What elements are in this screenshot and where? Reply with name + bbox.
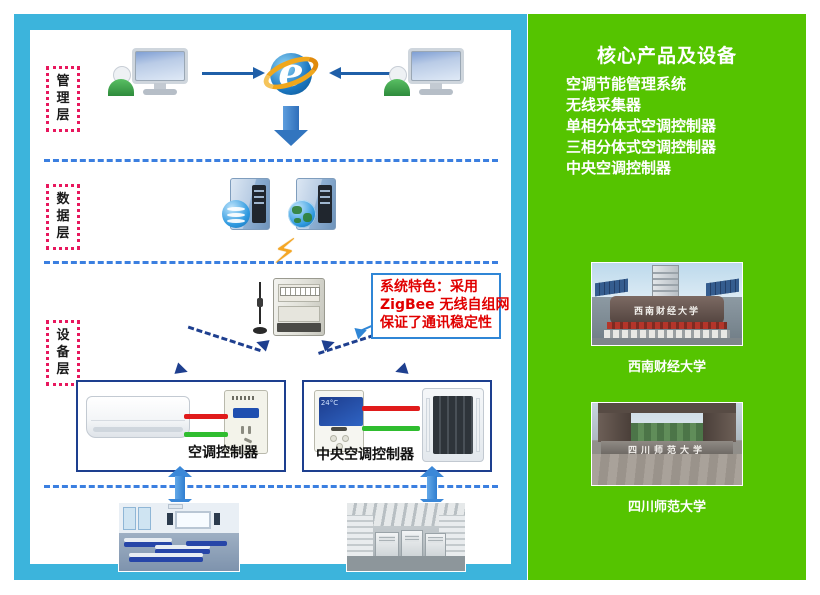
layer-char: 数: [49, 191, 77, 208]
products-title: 核心产品及设备: [528, 41, 806, 68]
link-collector-split-ac: [188, 326, 261, 352]
cable-red: [362, 406, 420, 411]
callout-line-3: 保证了通讯稳定性: [380, 314, 492, 332]
product-item: 单相分体式空调控制器: [566, 116, 716, 137]
layer-char: 层: [49, 107, 77, 124]
cable-red: [184, 414, 228, 419]
device-label-central-ac: 中央空调控制器: [316, 444, 414, 464]
layer-char: 备: [49, 344, 77, 361]
device-box-split-ac: 空调控制器: [76, 380, 286, 472]
zigbee-callout: 系统特色：采用 ZigBee 无线自组网 保证了通讯稳定性: [371, 273, 501, 339]
product-item: 空调节能管理系统: [566, 74, 716, 95]
layer-char: 据: [49, 208, 77, 225]
wall-thermostat-icon: 24°C: [314, 390, 364, 452]
device-label-split-ac: 空调控制器: [188, 442, 258, 462]
architecture-diagram: 管 理 层 数 据 层 设 备 层: [30, 30, 511, 564]
callout-line-2: ZigBee 无线自组网: [380, 296, 492, 314]
arrow-down-to-data-layer-icon: [274, 106, 308, 150]
callout-line-1: 系统特色：采用: [380, 278, 492, 296]
screenshot-root: 管 理 层 数 据 层 设 备 层: [0, 0, 820, 595]
link-arrowhead: [393, 362, 408, 377]
layer-separator-2: [44, 261, 498, 264]
case-photo-swufe: 西南财经大学: [591, 262, 743, 346]
arrow-client-to-browser-icon: [202, 72, 254, 75]
machine-room-photo: [346, 502, 466, 572]
product-item: 无线采集器: [566, 95, 716, 116]
case-caption-sicnu: 四川师范大学: [567, 496, 767, 515]
lightning-bolt-icon: ⚡: [273, 235, 297, 269]
split-air-conditioner-icon: [86, 396, 190, 438]
layer-char: 管: [49, 73, 77, 90]
user-right-icon: [384, 66, 410, 96]
product-item: 中央空调控制器: [566, 158, 716, 179]
web-server-icon: [288, 178, 340, 234]
monitor-left-icon: [132, 48, 188, 96]
link-arrowhead: [174, 362, 189, 377]
layer-char: 设: [49, 327, 77, 344]
database-server-icon: [222, 178, 274, 234]
products-list: 空调节能管理系统 无线采集器 单相分体式空调控制器 三相分体式空调控制器 中央空…: [566, 74, 716, 179]
thermostat-lcd: 24°C: [319, 397, 363, 426]
cable-green: [184, 432, 228, 437]
layer-tag-data: 数 据 层: [46, 184, 80, 250]
layer-char: 理: [49, 90, 77, 107]
layer-char: 层: [49, 361, 77, 378]
layer-char: 层: [49, 225, 77, 242]
wireless-collector-icon: [273, 278, 325, 336]
cassette-air-conditioner-icon: [422, 388, 484, 462]
case-photo-sicnu: 四川师范大学: [591, 402, 743, 486]
campus-sign-text: 西南财经大学: [619, 304, 715, 312]
classroom-photo: [118, 502, 240, 572]
user-left-icon: [108, 66, 134, 96]
case-caption-swufe: 西南财经大学: [567, 356, 767, 375]
product-item: 三相分体式空调控制器: [566, 137, 716, 158]
cable-green: [362, 426, 420, 431]
antenna-icon: [253, 282, 267, 334]
internet-explorer-icon: e: [263, 46, 319, 102]
layer-tag-management: 管 理 层: [46, 66, 80, 132]
architecture-panel-frame: 管 理 层 数 据 层 设 备 层: [14, 14, 527, 580]
layer-tag-device: 设 备 层: [46, 320, 80, 386]
products-panel: 核心产品及设备 空调节能管理系统 无线采集器 单相分体式空调控制器 三相分体式空…: [528, 14, 806, 580]
layer-separator-1: [44, 159, 498, 162]
monitor-right-icon: [408, 48, 464, 96]
device-box-central-ac: 24°C 中央空调控制器: [302, 380, 492, 472]
